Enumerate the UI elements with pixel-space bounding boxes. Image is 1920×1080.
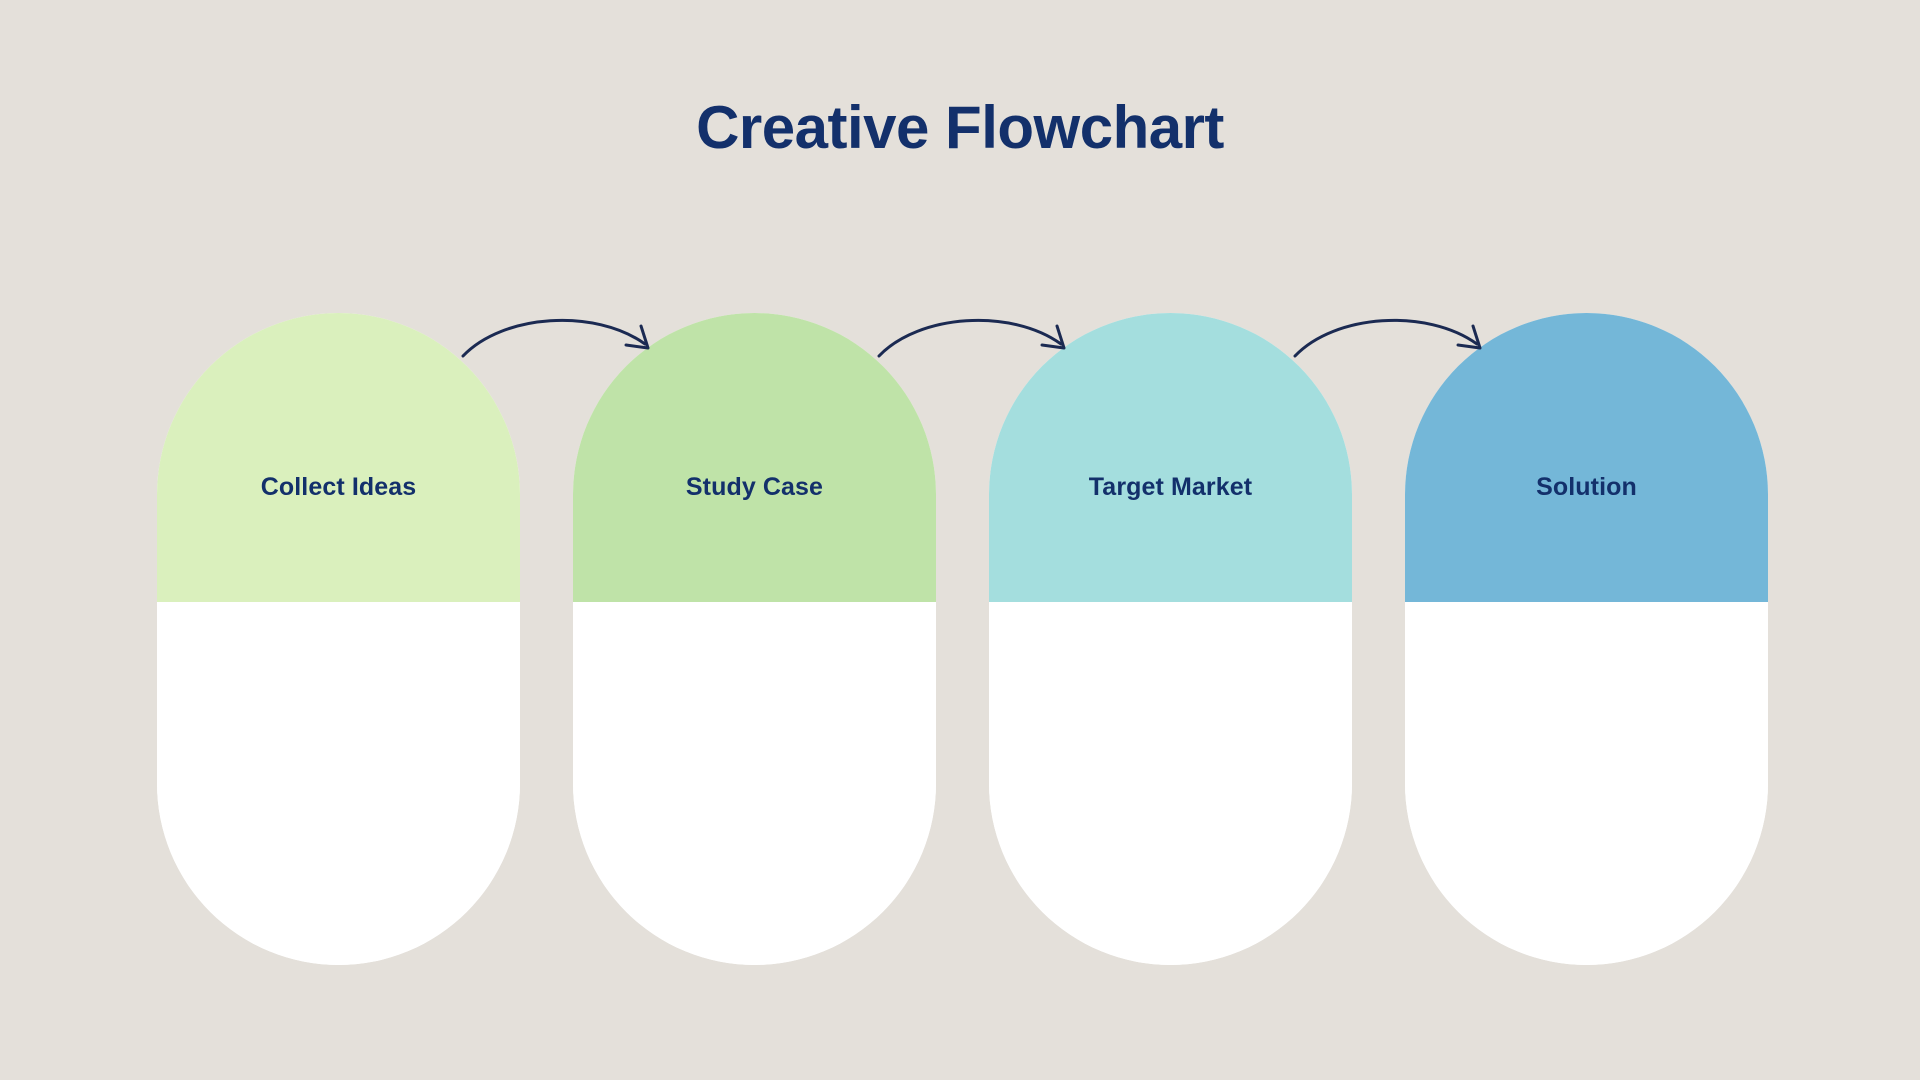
node-header-fill — [1405, 313, 1768, 602]
flowchart-node-step-4[interactable]: Solution — [1405, 313, 1768, 965]
node-label: Target Market — [989, 473, 1352, 502]
node-header-fill — [157, 313, 520, 602]
node-header-fill — [573, 313, 936, 602]
flowchart-node-step-1[interactable]: Collect Ideas — [157, 313, 520, 965]
node-label: Study Case — [573, 473, 936, 502]
node-body-fill — [989, 602, 1352, 965]
flowchart-node-step-3[interactable]: Target Market — [989, 313, 1352, 965]
node-body-fill — [573, 602, 936, 965]
slide-canvas: Creative Flowchart Collect IdeasStudy Ca… — [0, 0, 1920, 1080]
node-body-fill — [1405, 602, 1768, 965]
node-header-fill — [989, 313, 1352, 602]
flowchart-node-step-2[interactable]: Study Case — [573, 313, 936, 965]
node-label: Collect Ideas — [157, 473, 520, 502]
page-title: Creative Flowchart — [0, 96, 1920, 159]
node-body-fill — [157, 602, 520, 965]
node-label: Solution — [1405, 473, 1768, 502]
